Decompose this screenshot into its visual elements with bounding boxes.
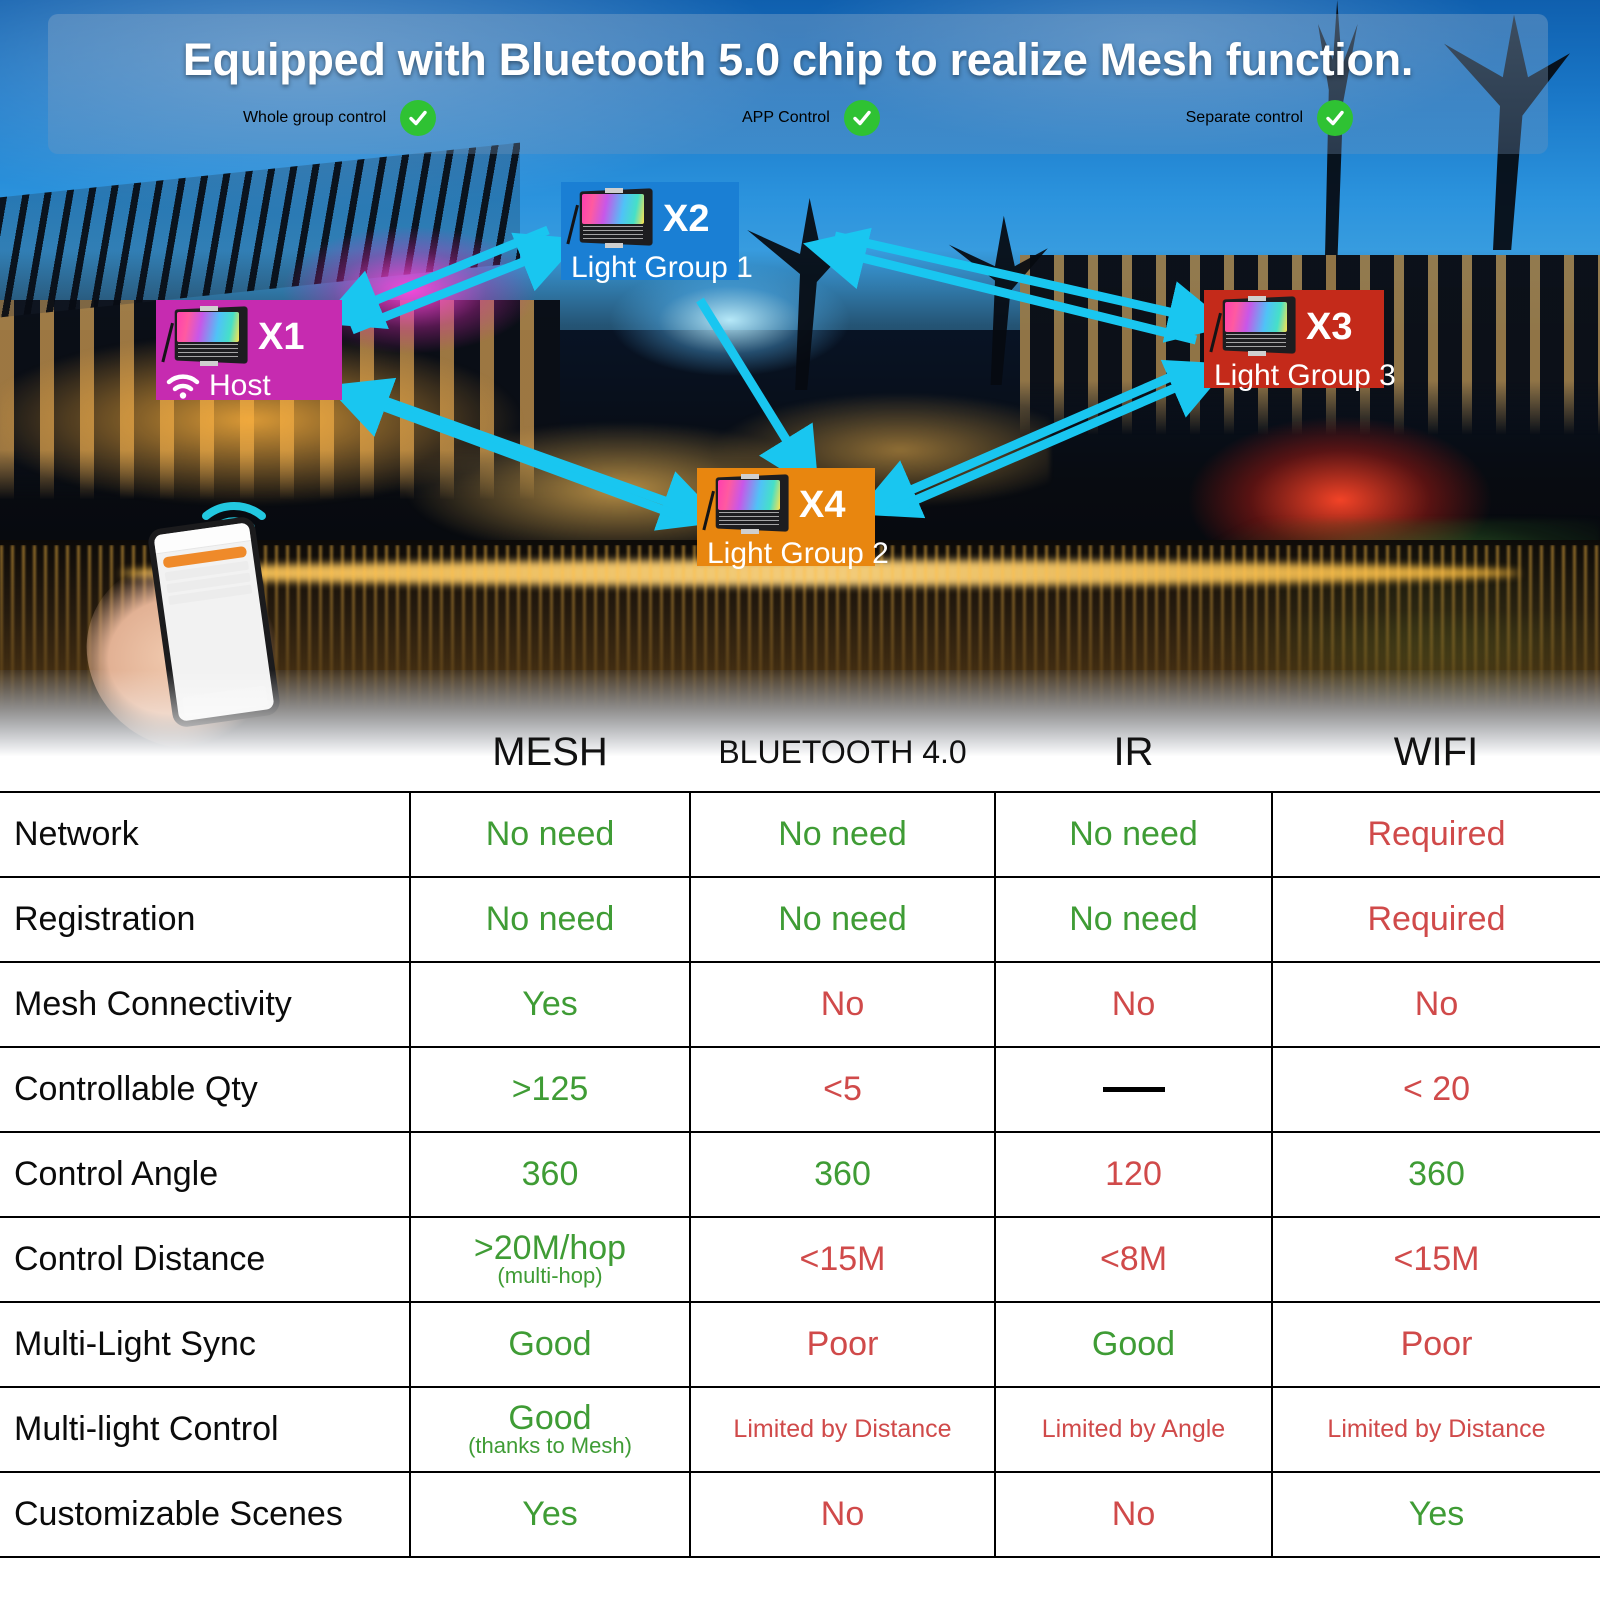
table-cell: 360 — [410, 1132, 690, 1217]
table-row: Multi-light ControlGood(thanks to Mesh)L… — [0, 1387, 1600, 1472]
cell-value: <8M — [1100, 1240, 1167, 1278]
table-cell: Good(thanks to Mesh) — [410, 1387, 690, 1472]
column-header-wifi: WIFI — [1272, 716, 1600, 788]
table-cell: Required — [1272, 877, 1600, 962]
cell-value: No need — [778, 900, 907, 938]
cell-value: 120 — [1105, 1155, 1162, 1193]
cell-value: Limited by Distance — [733, 1415, 951, 1443]
table-cell: No need — [690, 877, 995, 962]
table-cell — [995, 1047, 1272, 1132]
cell-value: No need — [1069, 815, 1198, 853]
table-cell: >125 — [410, 1047, 690, 1132]
table-row: Mesh ConnectivityYesNoNoNo — [0, 962, 1600, 1047]
cell-value: >125 — [512, 1070, 589, 1108]
cell-value: Required — [1368, 900, 1506, 938]
cell-value: No — [1112, 1495, 1155, 1533]
light-group-card-x1: X1 Host — [156, 300, 342, 400]
light-group-qty: X1 — [258, 318, 304, 356]
row-label: Registration — [0, 877, 410, 962]
table-cell: No — [690, 1472, 995, 1557]
table-row: Controllable Qty>125<5< 20 — [0, 1047, 1600, 1132]
table-cell: Limited by Angle — [995, 1387, 1272, 1472]
comparison-table: NetworkNo needNo needNo needRequiredRegi… — [0, 791, 1600, 1558]
light-group-qty: X4 — [799, 486, 845, 524]
feature-item-app-control: APP Control — [742, 100, 880, 136]
light-group-top-row: X1 — [166, 306, 332, 368]
table-row: NetworkNo needNo needNo needRequired — [0, 792, 1600, 877]
cell-value: >20M/hop(multi-hop) — [417, 1229, 683, 1288]
feature-item-separate-control: Separate control — [1186, 100, 1353, 136]
light-group-top-row: X2 — [571, 188, 729, 250]
check-circle-icon — [1317, 100, 1353, 136]
column-header-ir: IR — [995, 716, 1272, 788]
column-header-bluetooth: BLUETOOTH 4.0 — [690, 716, 995, 788]
light-group-caption-row: Light Group 2 — [707, 538, 865, 570]
feature-label: Whole group control — [243, 109, 386, 127]
row-label: Mesh Connectivity — [0, 962, 410, 1047]
cell-value: Yes — [522, 985, 577, 1023]
table-cell: 120 — [995, 1132, 1272, 1217]
table-cell: No — [690, 962, 995, 1047]
table-cell: No — [995, 1472, 1272, 1557]
feature-label: Separate control — [1186, 109, 1303, 127]
hero-photo: X1 Host X2 Light Group 1 — [0, 0, 1600, 790]
headline-banner: Equipped with Bluetooth 5.0 chip to real… — [48, 14, 1548, 154]
cell-value: No need — [778, 815, 907, 853]
floodlight-product-icon — [707, 474, 791, 536]
headline-title: Equipped with Bluetooth 5.0 chip to real… — [48, 34, 1548, 86]
row-label: Control Distance — [0, 1217, 410, 1302]
table-cell: Yes — [1272, 1472, 1600, 1557]
table-cell: Limited by Distance — [690, 1387, 995, 1472]
light-group-label: Light Group 1 — [571, 252, 753, 284]
table-column-headers: MESH BLUETOOTH 4.0 IR WIFI — [0, 716, 1600, 788]
cell-value: 360 — [522, 1155, 579, 1193]
light-group-card-x2: X2 Light Group 1 — [561, 182, 739, 280]
feature-label: APP Control — [742, 109, 830, 127]
not-applicable-dash-icon — [1103, 1087, 1165, 1092]
cell-value: No — [821, 1495, 864, 1533]
cell-value: No need — [486, 815, 615, 853]
check-circle-icon — [844, 100, 880, 136]
cell-value: 360 — [1408, 1155, 1465, 1193]
table-cell: Limited by Distance — [1272, 1387, 1600, 1472]
cell-value: Limited by Angle — [1042, 1415, 1225, 1443]
floodlight-product-icon — [571, 188, 655, 250]
table-cell: No — [1272, 962, 1600, 1047]
table-cell: No need — [410, 792, 690, 877]
cell-value: Poor — [807, 1325, 879, 1363]
table-row: Multi-Light SyncGoodPoorGoodPoor — [0, 1302, 1600, 1387]
feature-item-whole-group-control: Whole group control — [243, 100, 436, 136]
table-cell: 360 — [1272, 1132, 1600, 1217]
light-group-label: Light Group 3 — [1214, 360, 1396, 392]
cell-value: <5 — [823, 1070, 862, 1108]
cell-value: 360 — [814, 1155, 871, 1193]
cell-value: Required — [1368, 815, 1506, 853]
table-row: Control Angle360360120360 — [0, 1132, 1600, 1217]
table-cell: Good — [410, 1302, 690, 1387]
light-group-top-row: X3 — [1214, 296, 1374, 358]
table-row: Control Distance>20M/hop(multi-hop)<15M<… — [0, 1217, 1600, 1302]
cell-value: Good(thanks to Mesh) — [417, 1399, 683, 1458]
cell-value: Poor — [1401, 1325, 1473, 1363]
cell-value: Yes — [1409, 1495, 1464, 1533]
row-label: Network — [0, 792, 410, 877]
floodlight-product-icon — [1214, 296, 1298, 358]
light-group-card-x4: X4 Light Group 2 — [697, 468, 875, 566]
row-label: Controllable Qty — [0, 1047, 410, 1132]
table-cell: < 20 — [1272, 1047, 1600, 1132]
feature-list: Whole group control APP Control Separate… — [48, 100, 1548, 136]
table-cell: <8M — [995, 1217, 1272, 1302]
light-group-top-row: X4 — [707, 474, 865, 536]
table-cell: No — [995, 962, 1272, 1047]
cell-value: No need — [486, 900, 615, 938]
light-group-caption-row: Light Group 3 — [1214, 360, 1374, 392]
cell-value: No — [1112, 985, 1155, 1023]
cell-value: No — [821, 985, 864, 1023]
wifi-icon — [166, 373, 200, 399]
column-header-mesh: MESH — [410, 716, 690, 788]
table-cell: Poor — [1272, 1302, 1600, 1387]
row-label: Control Angle — [0, 1132, 410, 1217]
light-group-qty: X3 — [1306, 308, 1352, 346]
row-label: Multi-Light Sync — [0, 1302, 410, 1387]
table-cell: Yes — [410, 1472, 690, 1557]
cell-value: Good — [508, 1325, 591, 1363]
table-row: Customizable ScenesYesNoNoYes — [0, 1472, 1600, 1557]
table-cell: No need — [690, 792, 995, 877]
table-cell: Good — [995, 1302, 1272, 1387]
light-group-card-x3: X3 Light Group 3 — [1204, 290, 1384, 388]
cell-subtext: (thanks to Mesh) — [417, 1434, 683, 1458]
floodlight-product-icon — [166, 306, 250, 368]
table-cell: No need — [995, 877, 1272, 962]
light-group-label: Light Group 2 — [707, 538, 889, 570]
table-cell: <15M — [1272, 1217, 1600, 1302]
cell-subtext: (multi-hop) — [417, 1264, 683, 1288]
light-group-label: Host — [209, 370, 271, 402]
cell-value: < 20 — [1403, 1070, 1470, 1108]
table-cell: No need — [995, 792, 1272, 877]
table-cell: No need — [410, 877, 690, 962]
cell-value: Yes — [522, 1495, 577, 1533]
light-group-qty: X2 — [663, 200, 709, 238]
cell-value: <15M — [1394, 1240, 1480, 1278]
table-cell: Required — [1272, 792, 1600, 877]
cell-value: No — [1415, 985, 1458, 1023]
table-cell: Yes — [410, 962, 690, 1047]
table-cell: >20M/hop(multi-hop) — [410, 1217, 690, 1302]
cell-value: <15M — [800, 1240, 886, 1278]
comparison-table-body: NetworkNo needNo needNo needRequiredRegi… — [0, 792, 1600, 1557]
row-label: Customizable Scenes — [0, 1472, 410, 1557]
table-row: RegistrationNo needNo needNo needRequire… — [0, 877, 1600, 962]
table-cell: <15M — [690, 1217, 995, 1302]
check-circle-icon — [400, 100, 436, 136]
table-cell: Poor — [690, 1302, 995, 1387]
light-group-caption-row: Host — [166, 370, 332, 402]
cell-value: No need — [1069, 900, 1198, 938]
light-group-caption-row: Light Group 1 — [571, 252, 729, 284]
cell-value: Limited by Distance — [1327, 1415, 1545, 1443]
cell-value: Good — [1092, 1325, 1175, 1363]
row-label: Multi-light Control — [0, 1387, 410, 1472]
table-cell: <5 — [690, 1047, 995, 1132]
table-cell: 360 — [690, 1132, 995, 1217]
